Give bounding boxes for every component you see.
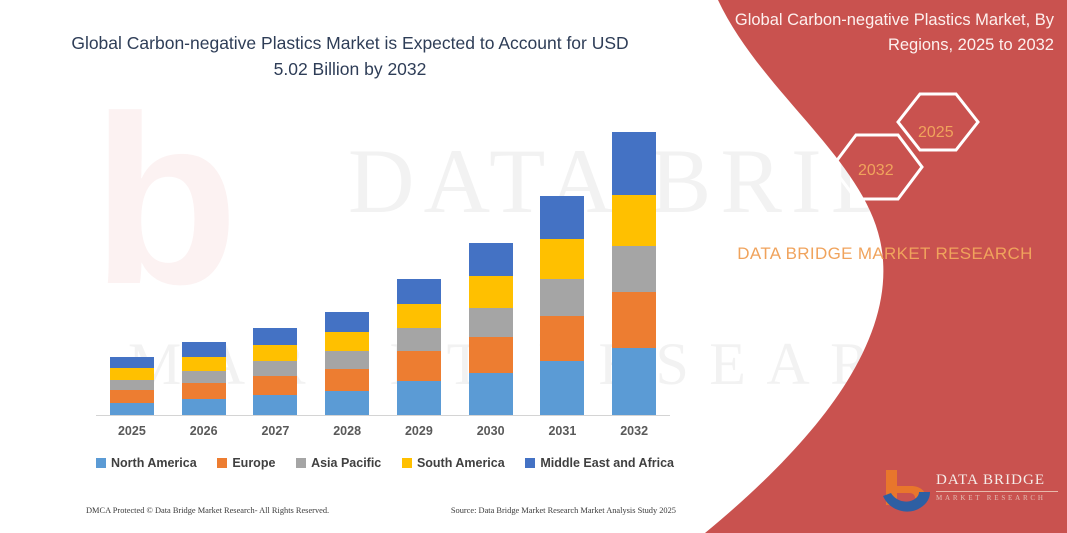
bar-segment[interactable] <box>325 332 369 351</box>
legend-swatch <box>96 458 106 468</box>
x-axis-label: 2029 <box>397 424 441 438</box>
x-axis-line <box>96 415 670 416</box>
bar-segment[interactable] <box>253 395 297 415</box>
bar-segment[interactable] <box>612 132 656 195</box>
x-axis-label: 2032 <box>612 424 656 438</box>
bar-segment[interactable] <box>182 383 226 399</box>
legend-item[interactable]: North America <box>96 456 197 470</box>
legend-swatch <box>402 458 412 468</box>
x-axis-label: 2027 <box>253 424 297 438</box>
bar-segment[interactable] <box>469 337 513 373</box>
x-axis-label: 2026 <box>182 424 226 438</box>
bar-segment[interactable] <box>182 342 226 357</box>
logo-text-block: DATA BRIDGE MARKET RESEARCH <box>936 472 1058 502</box>
bar-column[interactable] <box>469 243 513 415</box>
bar-segment[interactable] <box>397 279 441 304</box>
bar-segment[interactable] <box>612 292 656 348</box>
chart-legend: North AmericaEuropeAsia PacificSouth Ame… <box>96 456 674 470</box>
bar-segment[interactable] <box>110 357 154 368</box>
company-logo: DATA BRIDGE MARKET RESEARCH <box>880 466 1067 522</box>
bar-segment[interactable] <box>253 345 297 361</box>
bar-segment[interactable] <box>397 328 441 351</box>
bar-column[interactable] <box>612 132 656 415</box>
bar-column[interactable] <box>253 328 297 415</box>
bar-segment[interactable] <box>253 361 297 376</box>
bar-segment[interactable] <box>540 316 584 362</box>
right-panel: Global Carbon-negative Plastics Market, … <box>700 0 1067 533</box>
bar-segment[interactable] <box>325 312 369 332</box>
x-axis-label: 2025 <box>110 424 154 438</box>
bar-segment[interactable] <box>325 369 369 390</box>
hexagon-label-2025: 2025 <box>918 124 954 142</box>
bar-column[interactable] <box>110 357 154 415</box>
bar-segment[interactable] <box>253 376 297 395</box>
legend-label: South America <box>417 456 505 470</box>
x-axis-label: 2028 <box>325 424 369 438</box>
bar-column[interactable] <box>182 342 226 415</box>
bar-segment[interactable] <box>110 403 154 415</box>
legend-item[interactable]: Asia Pacific <box>296 456 381 470</box>
logo-sub-text: MARKET RESEARCH <box>936 494 1058 502</box>
bar-segment[interactable] <box>469 373 513 415</box>
bar-segment[interactable] <box>253 328 297 345</box>
bar-segment[interactable] <box>540 239 584 278</box>
bar-segment[interactable] <box>397 381 441 415</box>
legend-label: Asia Pacific <box>311 456 381 470</box>
bar-segment[interactable] <box>182 357 226 371</box>
bar-segment[interactable] <box>110 390 154 402</box>
bar-segment[interactable] <box>182 371 226 383</box>
bar-column[interactable] <box>540 196 584 415</box>
bar-segment[interactable] <box>612 195 656 246</box>
legend-swatch <box>296 458 306 468</box>
chart-plot-area <box>96 110 670 416</box>
footer-source: Source: Data Bridge Market Research Mark… <box>451 506 676 515</box>
brand-name: DATA BRIDGE MARKET RESEARCH <box>720 240 1050 267</box>
legend-item[interactable]: Middle East and Africa <box>525 456 674 470</box>
legend-label: North America <box>111 456 197 470</box>
legend-item[interactable]: South America <box>402 456 505 470</box>
bar-segment[interactable] <box>612 246 656 292</box>
footer: DMCA Protected © Data Bridge Market Rese… <box>86 506 676 515</box>
right-panel-title: Global Carbon-negative Plastics Market, … <box>724 8 1054 58</box>
bar-column[interactable] <box>325 312 369 415</box>
legend-item[interactable]: Europe <box>217 456 275 470</box>
legend-swatch <box>217 458 227 468</box>
bar-segment[interactable] <box>469 243 513 276</box>
bar-segment[interactable] <box>110 368 154 380</box>
bar-segment[interactable] <box>325 391 369 415</box>
bar-segment[interactable] <box>397 304 441 328</box>
bar-segment[interactable] <box>540 279 584 316</box>
bar-group <box>96 110 670 415</box>
bar-segment[interactable] <box>397 351 441 380</box>
legend-swatch <box>525 458 535 468</box>
footer-copyright: DMCA Protected © Data Bridge Market Rese… <box>86 506 329 515</box>
legend-label: Middle East and Africa <box>540 456 674 470</box>
chart-title: Global Carbon-negative Plastics Market i… <box>60 30 640 82</box>
x-axis-labels: 20252026202720282029203020312032 <box>96 424 670 438</box>
legend-label: Europe <box>232 456 275 470</box>
bar-segment[interactable] <box>110 380 154 390</box>
x-axis-label: 2031 <box>540 424 584 438</box>
bar-column[interactable] <box>397 279 441 415</box>
infographic-root: b DATA BRIDGE MARKET RESEARCH Global Car… <box>0 0 1067 533</box>
bar-segment[interactable] <box>325 351 369 369</box>
bar-segment[interactable] <box>540 361 584 415</box>
bar-segment[interactable] <box>612 348 656 415</box>
logo-divider <box>936 491 1058 492</box>
bar-segment[interactable] <box>182 399 226 415</box>
bar-segment[interactable] <box>540 196 584 239</box>
chart-region: Global Carbon-negative Plastics Market i… <box>0 0 700 533</box>
bar-segment[interactable] <box>469 276 513 308</box>
hexagon-badges: 2032 2025 <box>700 90 1067 210</box>
logo-main-text: DATA BRIDGE <box>936 472 1058 489</box>
logo-bridge-mark <box>880 466 934 518</box>
bar-segment[interactable] <box>469 308 513 337</box>
x-axis-label: 2030 <box>469 424 513 438</box>
hexagon-label-2032: 2032 <box>858 162 894 180</box>
